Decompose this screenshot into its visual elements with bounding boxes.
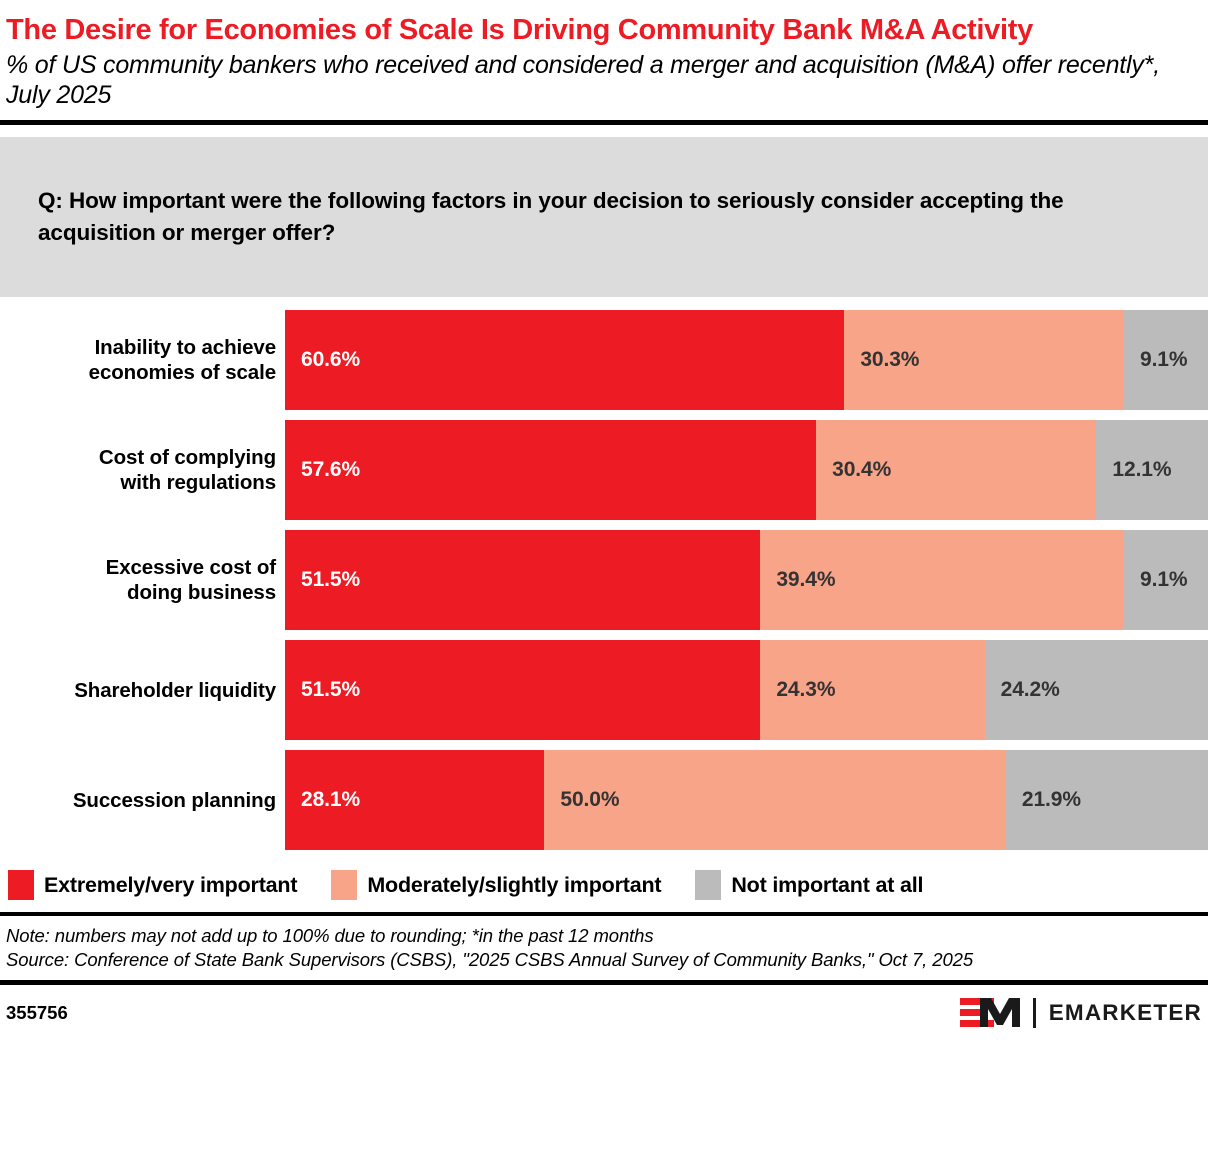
- brand-name: EMARKETER: [1049, 1000, 1202, 1026]
- legend-swatch-icon: [331, 870, 357, 900]
- bar-value-label: 30.3%: [860, 348, 919, 372]
- bar-value-label: 28.1%: [301, 788, 360, 812]
- emarketer-mark-icon: [960, 997, 1022, 1029]
- bar-row: Excessive cost ofdoing business51.5%39.4…: [0, 530, 1208, 630]
- legend-swatch-icon: [8, 870, 34, 900]
- legend-swatch-icon: [695, 870, 721, 900]
- chart-header: The Desire for Economies of Scale Is Dri…: [0, 0, 1208, 110]
- chart-id: 355756: [6, 1002, 68, 1024]
- bar-value-label: 57.6%: [301, 458, 360, 482]
- bar-segment[interactable]: 24.2%: [985, 640, 1208, 740]
- header-divider: [0, 120, 1208, 125]
- question-text: Q: How important were the following fact…: [38, 185, 1174, 249]
- bar-segment[interactable]: 12.1%: [1096, 420, 1208, 520]
- bar-category-label: Inability to achieveeconomies of scale: [0, 310, 285, 410]
- bar-value-label: 24.3%: [776, 678, 835, 702]
- bar-value-label: 30.4%: [832, 458, 891, 482]
- bar-segment[interactable]: 39.4%: [760, 530, 1124, 630]
- bar-value-label: 51.5%: [301, 678, 360, 702]
- brand-divider: [1033, 998, 1036, 1028]
- legend-label: Not important at all: [731, 873, 923, 898]
- bar-value-label: 12.1%: [1112, 458, 1171, 482]
- bar-segment[interactable]: 50.0%: [544, 750, 1006, 850]
- bar-value-label: 60.6%: [301, 348, 360, 372]
- chart-title: The Desire for Economies of Scale Is Dri…: [6, 14, 1186, 47]
- bar-row: Inability to achieveeconomies of scale60…: [0, 310, 1208, 410]
- chart-subtitle: % of US community bankers who received a…: [6, 51, 1201, 110]
- brand-logo: EMARKETER: [960, 997, 1202, 1029]
- bar-category-label: Excessive cost ofdoing business: [0, 530, 285, 630]
- bar-row: Cost of complyingwith regulations57.6%30…: [0, 420, 1208, 520]
- bar-track: 51.5%39.4%9.1%: [285, 530, 1208, 630]
- legend-label: Extremely/very important: [44, 873, 297, 898]
- chart-legend: Extremely/very importantModerately/sligh…: [0, 864, 1208, 906]
- bar-value-label: 39.4%: [776, 568, 835, 592]
- bar-segment[interactable]: 60.6%: [285, 310, 844, 410]
- bar-segment[interactable]: 9.1%: [1124, 310, 1208, 410]
- bar-segment[interactable]: 30.3%: [844, 310, 1124, 410]
- bar-track: 51.5%24.3%24.2%: [285, 640, 1208, 740]
- bar-value-label: 24.2%: [1001, 678, 1060, 702]
- bar-value-label: 9.1%: [1140, 568, 1187, 592]
- bar-category-label: Shareholder liquidity: [0, 640, 285, 740]
- legend-item[interactable]: Extremely/very important: [8, 870, 297, 900]
- bar-value-label: 50.0%: [560, 788, 619, 812]
- bar-value-label: 9.1%: [1140, 348, 1187, 372]
- chart-figure: The Desire for Economies of Scale Is Dri…: [0, 0, 1208, 1150]
- bar-segment[interactable]: 51.5%: [285, 640, 760, 740]
- bar-segment[interactable]: 21.9%: [1006, 750, 1208, 850]
- bar-segment[interactable]: 9.1%: [1124, 530, 1208, 630]
- bar-row: Shareholder liquidity51.5%24.3%24.2%: [0, 640, 1208, 740]
- legend-label: Moderately/slightly important: [367, 873, 661, 898]
- bar-category-label: Succession planning: [0, 750, 285, 850]
- legend-item[interactable]: Moderately/slightly important: [331, 870, 661, 900]
- bar-value-label: 21.9%: [1022, 788, 1081, 812]
- bar-category-label: Cost of complyingwith regulations: [0, 420, 285, 520]
- legend-item[interactable]: Not important at all: [695, 870, 923, 900]
- chart-footer: 355756 EMARKETER: [0, 985, 1208, 1031]
- bar-segment[interactable]: 51.5%: [285, 530, 760, 630]
- stacked-bar-plot: Inability to achieveeconomies of scale60…: [0, 310, 1208, 850]
- chart-source: Source: Conference of State Bank Supervi…: [6, 948, 1202, 972]
- bar-segment[interactable]: 28.1%: [285, 750, 544, 850]
- bar-track: 28.1%50.0%21.9%: [285, 750, 1208, 850]
- bar-segment[interactable]: 24.3%: [760, 640, 984, 740]
- bar-row: Succession planning28.1%50.0%21.9%: [0, 750, 1208, 850]
- bar-track: 60.6%30.3%9.1%: [285, 310, 1208, 410]
- bar-value-label: 51.5%: [301, 568, 360, 592]
- chart-note: Note: numbers may not add up to 100% due…: [6, 924, 1202, 948]
- chart-footnotes: Note: numbers may not add up to 100% due…: [0, 916, 1208, 971]
- question-panel: Q: How important were the following fact…: [0, 137, 1208, 297]
- bar-segment[interactable]: 30.4%: [816, 420, 1096, 520]
- bar-segment[interactable]: 57.6%: [285, 420, 816, 520]
- bar-track: 57.6%30.4%12.1%: [285, 420, 1208, 520]
